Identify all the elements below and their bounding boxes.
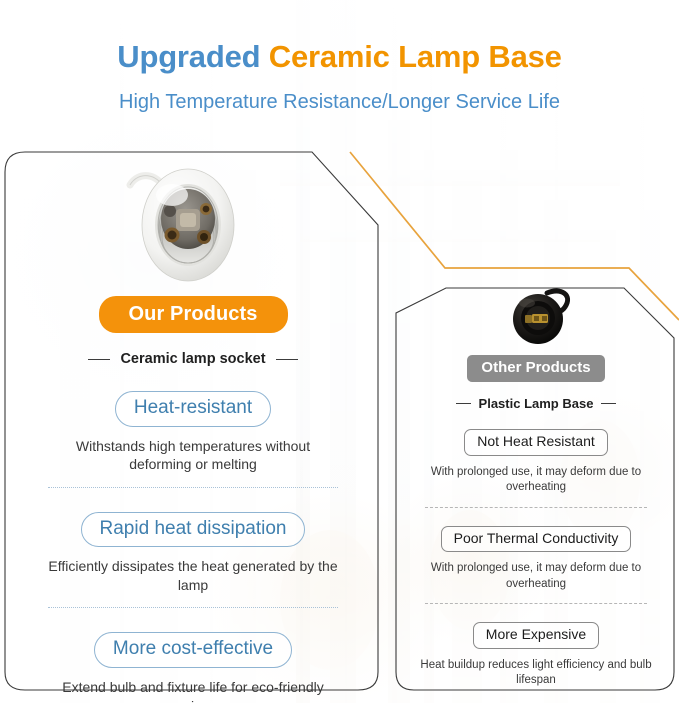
left-feature-3-description: Extend bulb and fixture life for eco-fri… xyxy=(48,678,338,703)
right-product-name-row: Plastic Lamp Base xyxy=(405,396,667,411)
left-product-name-row: Ceramic lamp socket xyxy=(18,351,368,367)
left-product-name: Ceramic lamp socket xyxy=(120,351,265,367)
plastic-lamp-base-image xyxy=(505,285,577,347)
rule-left xyxy=(456,403,471,404)
title-upgraded: Upgraded xyxy=(117,39,269,74)
header: Upgraded Ceramic Lamp Base High Temperat… xyxy=(0,0,679,114)
right-feature-2: Poor Thermal Conductivity With prolonged… xyxy=(405,526,667,605)
right-feature-2-pill[interactable]: Poor Thermal Conductivity xyxy=(441,526,632,553)
left-feature-1-pill[interactable]: Heat-resistant xyxy=(115,391,271,427)
left-divider-2 xyxy=(48,607,338,608)
left-feature-2: Rapid heat dissipation Efficiently dissi… xyxy=(18,512,368,609)
left-feature-1: Heat-resistant Withstands high temperatu… xyxy=(18,391,368,488)
left-feature-3-pill[interactable]: More cost-effective xyxy=(94,632,292,668)
page-subtitle: High Temperature Resistance/Longer Servi… xyxy=(0,74,679,114)
right-feature-2-description: With prolonged use, it may deform due to… xyxy=(416,561,656,592)
infographic-root: Upgraded Ceramic Lamp Base High Temperat… xyxy=(0,0,679,703)
right-feature-1: Not Heat Resistant With prolonged use, i… xyxy=(405,429,667,508)
left-feature-2-description: Efficiently dissipates the heat generate… xyxy=(48,557,338,594)
right-panel-content: Other Products Plastic Lamp Base Not Hea… xyxy=(405,355,667,689)
ceramic-lamp-socket-image xyxy=(118,163,250,288)
right-feature-3: More Expensive Heat buildup reduces ligh… xyxy=(405,622,667,689)
right-divider-2 xyxy=(425,603,647,604)
right-product-name: Plastic Lamp Base xyxy=(479,396,594,411)
right-feature-3-pill[interactable]: More Expensive xyxy=(473,622,599,649)
rule-right xyxy=(276,359,298,360)
left-divider-1 xyxy=(48,487,338,488)
rule-left xyxy=(88,359,110,360)
other-products-badge[interactable]: Other Products xyxy=(467,355,604,382)
title-ceramic-lamp-base: Ceramic Lamp Base xyxy=(269,39,562,74)
right-divider-1 xyxy=(425,507,647,508)
page-title: Upgraded Ceramic Lamp Base xyxy=(0,0,679,74)
right-feature-1-description: With prolonged use, it may deform due to… xyxy=(416,465,656,496)
rule-right xyxy=(601,403,616,404)
left-panel-content: Our Products Ceramic lamp socket Heat-re… xyxy=(18,296,368,703)
left-feature-3: More cost-effective Extend bulb and fixt… xyxy=(18,632,368,703)
right-feature-3-description: Heat buildup reduces light efficiency an… xyxy=(416,658,656,689)
left-feature-1-description: Withstands high temperatures without def… xyxy=(48,437,338,474)
left-feature-2-pill[interactable]: Rapid heat dissipation xyxy=(81,512,306,548)
our-products-badge[interactable]: Our Products xyxy=(99,296,288,333)
right-feature-1-pill[interactable]: Not Heat Resistant xyxy=(464,429,608,456)
